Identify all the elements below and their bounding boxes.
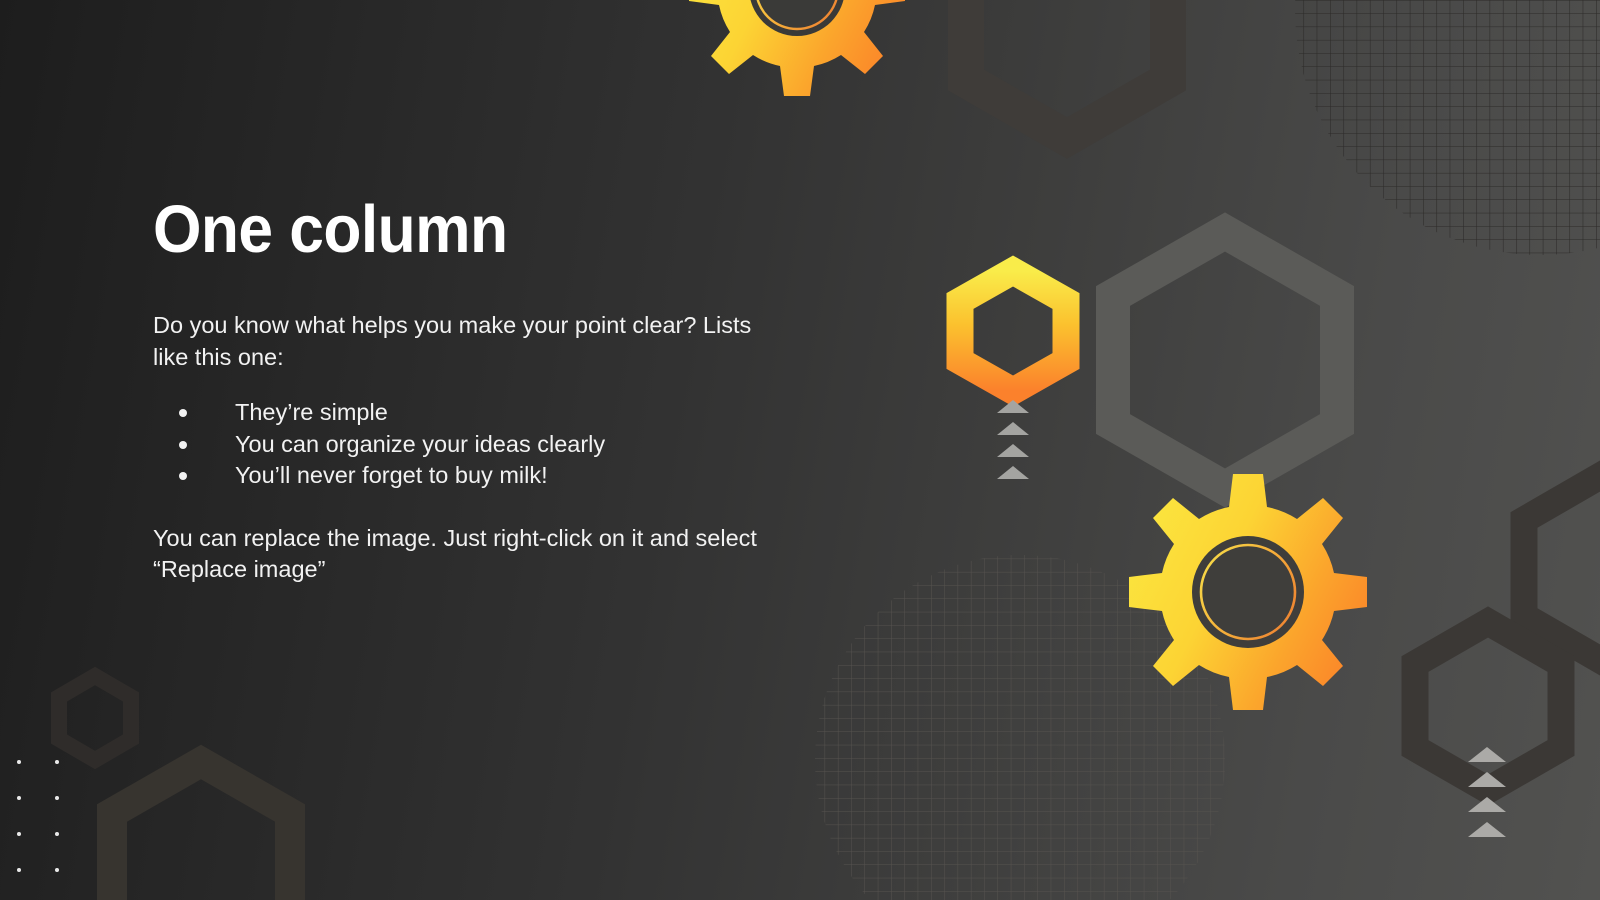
list-item-label: You can organize your ideas clearly [235,431,605,457]
list-item: They’re simple [153,397,793,429]
hexagon-dark-right-lower [1415,622,1561,790]
gear-icon-large [1129,474,1367,710]
hexagon-dark-top [966,0,1168,138]
content-column: One column Do you know what helps you ma… [153,196,793,586]
grid-circle-top-right [1280,0,1600,270]
hexagon-dark-bottom-left-large [112,762,290,900]
hexagon-dark-bottom-left-small [59,676,131,760]
outro-paragraph: You can replace the image. Just right-cl… [153,523,793,586]
slide-canvas: One column Do you know what helps you ma… [0,0,1600,900]
page-title: One column [153,196,748,263]
intro-paragraph: Do you know what helps you make your poi… [153,310,793,373]
list-item: You can organize your ideas clearly [153,429,793,461]
list-item-label: They’re simple [235,399,388,425]
chevron-up-icon-center-group [997,400,1029,479]
bullet-dot-icon [179,441,187,449]
list-item-label: You’ll never forget to buy milk! [235,462,548,488]
bullet-dot-icon [179,409,187,417]
gear-icon-top [689,0,905,96]
bullet-list: They’re simple You can organize your ide… [153,397,793,492]
bullet-dot-icon [179,472,187,480]
hexagon-accent [960,271,1066,391]
list-item: You’ll never forget to buy milk! [153,460,793,492]
hexagon-gray-large [1113,232,1337,488]
